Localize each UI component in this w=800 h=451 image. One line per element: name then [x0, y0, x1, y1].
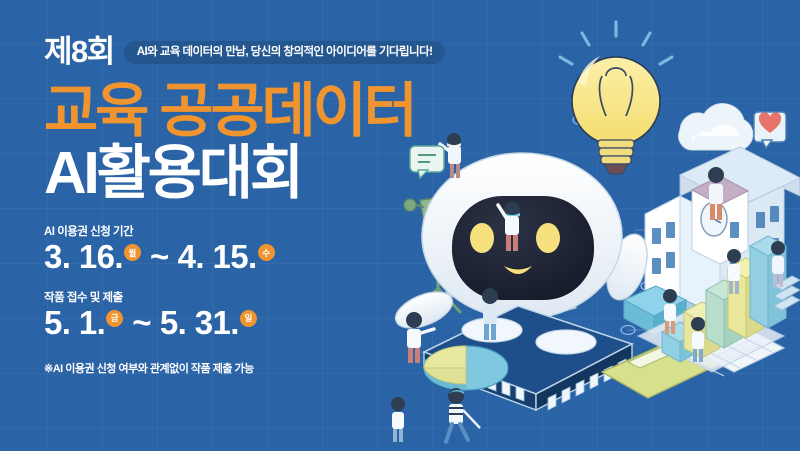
schedule-voucher-label: AI 이용권 신청 기간 [44, 223, 474, 239]
edition-and-subtitle-row: 제8회 AI와 교육 데이터의 만남, 당신의 창의적인 아이디어를 기다립니다… [44, 36, 474, 67]
person-5 [446, 388, 480, 442]
voucher-start-day-badge: 월 [124, 244, 141, 261]
title-line-2: AI활용대회 [44, 143, 474, 203]
voucher-separator: ~ [150, 240, 169, 275]
cloud [679, 104, 753, 150]
title-line-1: 교육 공공데이터 [44, 81, 474, 141]
event-banner: 제8회 AI와 교육 데이터의 만남, 당신의 창의적인 아이디어를 기다립니다… [0, 0, 800, 451]
person-11 [391, 397, 405, 442]
submission-end-day-badge: 일 [240, 310, 257, 327]
schedule-submission: 작품 접수 및 제출 5. 1. 금 ~ 5. 31. 일 [44, 289, 474, 341]
submission-end-date: 5. 31. [160, 306, 239, 341]
subtitle-box: AI와 교육 데이터의 만남, 당신의 창의적인 아이디어를 기다립니다! [124, 41, 446, 65]
schedule-voucher: AI 이용권 신청 기간 3. 16. 월 ~ 4. 15. 수 [44, 223, 474, 275]
submission-separator: ~ [132, 306, 151, 341]
schedule-submission-dates: 5. 1. 금 ~ 5. 31. 일 [44, 306, 474, 341]
voucher-end-day-badge: 수 [258, 244, 275, 261]
schedule-submission-label: 작품 접수 및 제출 [44, 289, 474, 305]
subtitle-text: AI와 교육 데이터의 만남, 당신의 창의적인 아이디어를 기다립니다! [137, 46, 433, 59]
schedule-voucher-dates: 3. 16. 월 ~ 4. 15. 수 [44, 240, 474, 275]
lightbulb-icon [560, 22, 672, 174]
edition-label: 제8회 [44, 36, 114, 67]
voucher-start-date: 3. 16. [44, 240, 123, 275]
banner-text-block: 제8회 AI와 교육 데이터의 만남, 당신의 창의적인 아이디어를 기다립니다… [44, 36, 474, 376]
voucher-end-date: 4. 15. [178, 240, 257, 275]
submission-start-day-badge: 금 [106, 310, 123, 327]
robot-eye-right [536, 223, 560, 253]
heart-message-bubble [754, 112, 786, 148]
submission-start-date: 5. 1. [44, 306, 105, 341]
footnote-text: ※AI 이용권 신청 여부와 관계없이 작품 제출 가능 [44, 360, 474, 376]
